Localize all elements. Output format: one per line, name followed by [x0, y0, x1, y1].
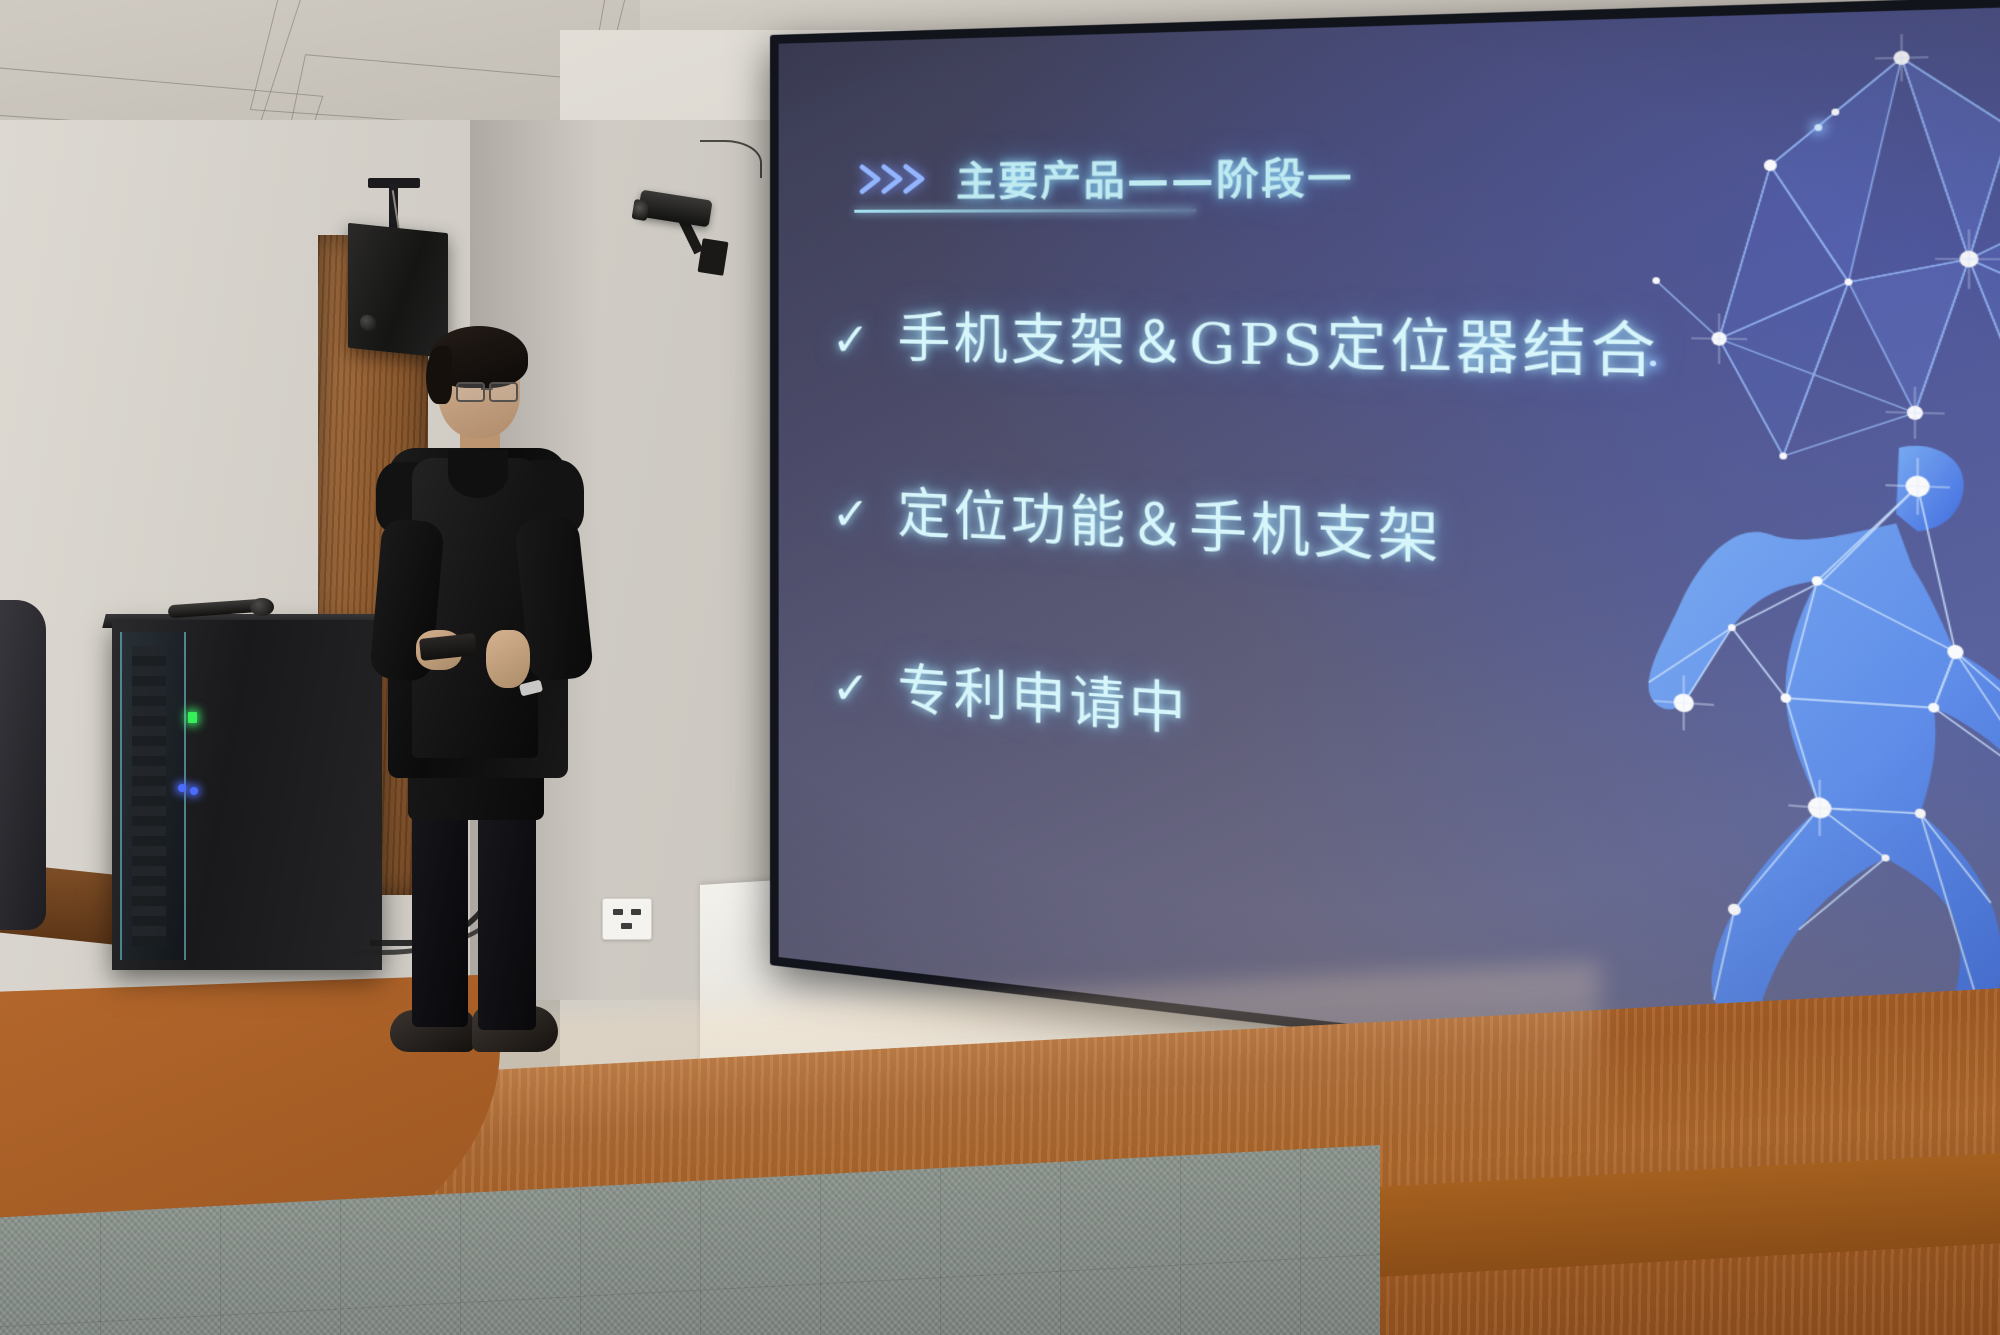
triple-chevron-right-icon — [856, 158, 930, 199]
presenter-collar — [448, 450, 508, 498]
presenter-sideburn — [426, 346, 452, 404]
bullet-text: 手机支架＆GPS定位器结合 — [897, 295, 1659, 390]
check-icon: ✓ — [832, 490, 870, 538]
list-item: ✓ 专利申请中 — [832, 642, 1749, 790]
slide-bullet-list: ✓ 手机支架＆GPS定位器结合 ✓ 定位功能＆手机支架 ✓ 专利申请中 — [832, 295, 1749, 902]
bullet-text: 专利申请中 — [897, 646, 1189, 746]
partial-bystander — [0, 600, 46, 930]
slide-title-row: 主要产品——阶段一 — [856, 145, 1353, 208]
check-icon: ✓ — [832, 316, 870, 363]
glasses-icon — [456, 382, 518, 399]
slide-surface: 主要产品——阶段一 ✓ 手机支架＆GPS定位器结合 ✓ 定位功能＆手机支架 ✓ … — [779, 1, 2000, 1128]
list-item: ✓ 定位功能＆手机支架 — [832, 468, 1749, 591]
slide-title: 主要产品——阶段一 — [956, 145, 1354, 208]
presenter-hand-right — [486, 630, 530, 688]
rack-status-led-green — [188, 712, 197, 723]
projection-screen[interactable]: 主要产品——阶段一 ✓ 手机支架＆GPS定位器结合 ✓ 定位功能＆手机支架 ✓ … — [770, 0, 2000, 1141]
slide-title-underline — [854, 209, 1196, 213]
presentation-room-scene: 主要产品——阶段一 ✓ 手机支架＆GPS定位器结合 ✓ 定位功能＆手机支架 ✓ … — [0, 0, 2000, 1335]
rack-status-led-blue — [178, 784, 186, 792]
presenter — [360, 330, 650, 1030]
list-item: ✓ 手机支架＆GPS定位器结合 — [832, 295, 1749, 393]
bullet-text: 定位功能＆手机支架 — [897, 471, 1442, 576]
glow-dot — [1814, 124, 1822, 131]
check-icon: ✓ — [832, 663, 870, 712]
microphone-capsule-icon — [250, 598, 274, 616]
rack-glass-door[interactable] — [120, 632, 186, 960]
rack-status-led-blue — [190, 787, 198, 795]
rack-equipment-shelves — [132, 646, 166, 946]
camera-lens-icon — [632, 199, 650, 221]
camera-wall-mount — [698, 238, 729, 276]
presenter-leg-left — [412, 802, 468, 1027]
presenter-leg-right — [478, 800, 536, 1030]
